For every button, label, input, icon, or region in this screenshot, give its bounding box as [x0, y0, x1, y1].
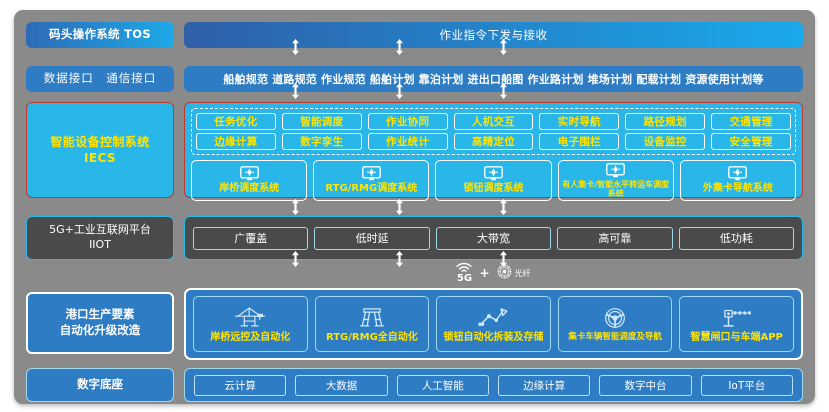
digital-base-item[interactable]: 边缘计算	[498, 375, 590, 396]
iecs-tag[interactable]: 智能调度	[282, 113, 362, 130]
monitor-gear-icon	[606, 163, 625, 178]
iecs-tag[interactable]: 任务优化	[196, 113, 276, 130]
iecs-system-box[interactable]: 锁钮调度系统	[435, 160, 551, 201]
iecs-left-line2: IECS	[50, 150, 149, 166]
iecs-tag[interactable]: 实时导航	[539, 113, 619, 130]
iecs-system-box[interactable]: 外集卡导航系统	[680, 160, 796, 201]
iecs-tag[interactable]: 作业统计	[368, 133, 448, 150]
double-arrow-vertical-icon	[499, 199, 508, 215]
iecs-system-box[interactable]: 有人集卡/智能水平转运车调度系统	[558, 160, 674, 201]
iiot-left-line2: IIOT	[49, 238, 151, 253]
digital-base-item[interactable]: 数字中台	[599, 375, 691, 396]
tos-right-banner: 作业指令下发与接收	[184, 22, 803, 48]
interface-right-text: 船舶规范 道路规范 作业规范 船舶计划 靠泊计划 进出口船图 作业路计划 堆场计…	[223, 71, 763, 87]
diagram-root: 码头操作系统 TOS 作业指令下发与接收 数据接口 通信接口 船舶规范 道路规范…	[0, 0, 829, 412]
automation-item[interactable]: 智慧闸口与车端APP	[679, 296, 794, 352]
tos-row: 码头操作系统 TOS 作业指令下发与接收	[14, 22, 815, 48]
iiot-row: 5G+工业互联网平台 IIOT 广覆盖 低时延 大带宽 高可靠 低功耗	[14, 216, 815, 260]
iiot-feature-panel: 广覆盖 低时延 大带宽 高可靠 低功耗	[184, 216, 803, 260]
double-arrow-vertical-icon	[291, 251, 300, 267]
double-arrow-vertical-icon	[395, 251, 404, 267]
interface-right-banner: 船舶规范 道路规范 作业规范 船舶计划 靠泊计划 进出口船图 作业路计划 堆场计…	[184, 66, 803, 92]
digital-base-item[interactable]: 大数据	[295, 375, 387, 396]
plus-sign: +	[479, 266, 489, 280]
monitor-gear-icon	[728, 166, 747, 181]
double-arrow-vertical-icon	[291, 39, 300, 55]
iecs-system-label: 锁钮调度系统	[464, 183, 524, 195]
iecs-capability-group: 任务优化 智能调度 作业协同 人机交互 实时导航 路径规划 交通管理 边缘计算 …	[191, 108, 796, 155]
iecs-system-row: 岸桥调度系统	[191, 160, 796, 201]
iiot-left-line1: 5G+工业互联网平台	[49, 223, 151, 238]
iecs-tag[interactable]: 数字孪生	[282, 133, 362, 150]
interface-left-label: 数据接口 通信接口	[26, 66, 174, 92]
double-arrow-vertical-icon	[499, 83, 508, 99]
iecs-system-label: 岸桥调度系统	[219, 183, 279, 195]
network-badge: 5G +	[184, 262, 803, 284]
digital-base-left-label: 数字底座	[26, 368, 174, 402]
diagram-frame: 码头操作系统 TOS 作业指令下发与接收 数据接口 通信接口 船舶规范 道路规范…	[14, 10, 815, 404]
iecs-tag-row-1: 任务优化 智能调度 作业协同 人机交互 实时导航 路径规划 交通管理	[196, 113, 791, 130]
double-arrow-vertical-icon	[395, 39, 404, 55]
automation-item-label: 集卡车辆智能调度及导航	[568, 333, 662, 342]
interface-left-text: 数据接口 通信接口	[44, 71, 157, 87]
wifi-5g-label: 5G	[457, 274, 472, 284]
iecs-tag[interactable]: 边缘计算	[196, 133, 276, 150]
automation-item-label: 智慧闸口与车端APP	[690, 332, 782, 343]
iecs-tag[interactable]: 路径规划	[625, 113, 705, 130]
iecs-tag-row-2: 边缘计算 数字孪生 作业统计 高精定位 电子围栏 设备监控 安全管理	[196, 133, 791, 150]
digital-base-panel: 云计算 大数据 人工智能 边缘计算 数字中台 IoT平台	[184, 368, 803, 402]
iecs-tag[interactable]: 安全管理	[711, 133, 791, 150]
automation-item[interactable]: 锁钮自动化拆装及存储	[436, 296, 551, 352]
iiot-feature[interactable]: 低功耗	[679, 227, 794, 250]
iiot-feature[interactable]: 高可靠	[557, 227, 672, 250]
digital-base-item[interactable]: IoT平台	[701, 375, 793, 396]
iecs-tag[interactable]: 电子围栏	[539, 133, 619, 150]
iecs-left-label: 智能设备控制系统 IECS	[26, 102, 174, 198]
automation-item[interactable]: 集卡车辆智能调度及导航	[558, 296, 673, 352]
automation-left-line1: 港口生产要素	[60, 307, 141, 323]
automation-left-line2: 自动化升级改造	[60, 323, 141, 339]
iecs-panel: 任务优化 智能调度 作业协同 人机交互 实时导航 路径规划 交通管理 边缘计算 …	[184, 102, 803, 198]
iecs-tag[interactable]: 设备监控	[625, 133, 705, 150]
digital-base-item[interactable]: 人工智能	[397, 375, 489, 396]
automation-left-label: 港口生产要素 自动化升级改造	[26, 292, 174, 354]
iecs-system-label: 有人集卡/智能水平转运车调度系统	[559, 180, 673, 198]
steering-wheel-icon	[598, 306, 632, 330]
tos-left-label: 码头操作系统 TOS	[26, 22, 174, 48]
automation-item[interactable]: RTG/RMG全自动化	[315, 296, 430, 352]
automation-item-label: 岸桥远控及自动化	[210, 332, 290, 343]
monitor-gear-icon	[484, 166, 503, 181]
automation-item-label: RTG/RMG全自动化	[326, 332, 418, 343]
digital-base-left-text: 数字底座	[77, 377, 123, 393]
iecs-system-box[interactable]: RTG/RMG调度系统	[313, 160, 429, 201]
quay-crane-icon	[233, 305, 267, 329]
double-arrow-vertical-icon	[499, 39, 508, 55]
iiot-feature[interactable]: 低时延	[314, 227, 429, 250]
iiot-feature[interactable]: 广覆盖	[193, 227, 308, 250]
iecs-tag[interactable]: 高精定位	[454, 133, 534, 150]
iecs-left-line1: 智能设备控制系统	[50, 134, 149, 150]
monitor-gear-icon	[240, 166, 259, 181]
iecs-tag[interactable]: 作业协同	[368, 113, 448, 130]
iecs-row: 智能设备控制系统 IECS 任务优化 智能调度 作业协同 人机交互 实时导航 路…	[14, 102, 815, 198]
gate-barrier-icon	[720, 305, 754, 329]
iecs-system-label: RTG/RMG调度系统	[325, 183, 417, 195]
automation-panel: 岸桥远控及自动化	[184, 288, 803, 360]
monitor-gear-icon	[362, 166, 381, 181]
tos-right-text: 作业指令下发与接收	[440, 27, 548, 43]
iecs-system-box[interactable]: 岸桥调度系统	[191, 160, 307, 201]
automation-item-label: 锁钮自动化拆装及存储	[443, 332, 543, 343]
digital-base-row: 数字底座 云计算 大数据 人工智能 边缘计算 数字中台 IoT平台	[14, 368, 815, 402]
double-arrow-vertical-icon	[499, 251, 508, 267]
wifi-5g-icon: 5G	[456, 263, 472, 284]
double-arrow-vertical-icon	[291, 83, 300, 99]
iecs-system-label: 外集卡导航系统	[703, 183, 773, 195]
iecs-tag[interactable]: 人机交互	[454, 113, 534, 130]
double-arrow-vertical-icon	[395, 83, 404, 99]
digital-base-item[interactable]: 云计算	[194, 375, 286, 396]
automation-row: 港口生产要素 自动化升级改造	[14, 288, 815, 360]
double-arrow-vertical-icon	[291, 199, 300, 215]
interface-row: 数据接口 通信接口 船舶规范 道路规范 作业规范 船舶计划 靠泊计划 进出口船图…	[14, 66, 815, 92]
double-arrow-vertical-icon	[395, 199, 404, 215]
iecs-tag[interactable]: 交通管理	[711, 113, 791, 130]
iiot-left-label: 5G+工业互联网平台 IIOT	[26, 216, 174, 260]
tos-left-text: 码头操作系统 TOS	[49, 27, 151, 43]
iiot-feature[interactable]: 大带宽	[436, 227, 551, 250]
fiber-label: 光纤	[515, 268, 531, 279]
robot-arm-icon	[476, 305, 510, 329]
gantry-crane-icon	[355, 305, 389, 329]
automation-item[interactable]: 岸桥远控及自动化	[193, 296, 308, 352]
